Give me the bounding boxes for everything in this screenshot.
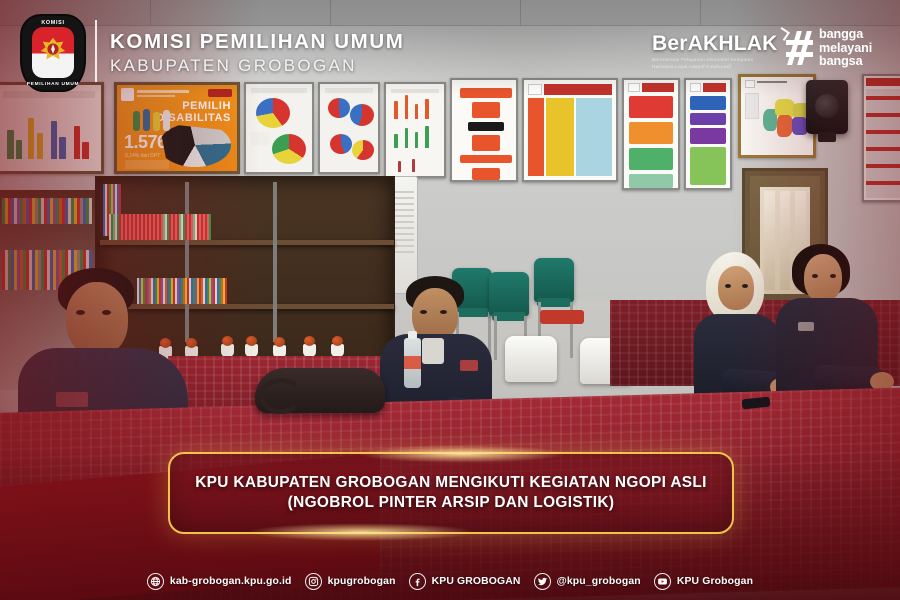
screenshot-root: PEMILIHDISABILITAS 1.576 0,14% dari DPT — [0, 0, 900, 600]
garuda-emblem-icon — [38, 35, 68, 65]
social-item-youtube[interactable]: KPU Grobogan — [654, 573, 753, 590]
social-item-website[interactable]: kab-grobogan.kpu.go.id — [147, 573, 292, 590]
hashtag-icon — [786, 31, 813, 65]
berakhlak-logo: BerAKHLAK Berorientasi Pelayanan Akuntab… — [652, 32, 777, 70]
youtube-icon — [654, 573, 671, 590]
caption-line-2: (NGOBROL PINTER ARSIP DAN LOGISTIK) — [195, 493, 707, 513]
social-label-twitter: @kpu_grobogan — [557, 576, 641, 587]
bangga-line-1: bangga — [819, 28, 872, 42]
social-media-bar: kab-grobogan.kpu.go.id kpugrobogan KPU G… — [0, 573, 900, 590]
backpack — [255, 368, 385, 413]
caption-banner: KPU KABUPATEN GROBOGAN MENGIKUTI KEGIATA… — [168, 452, 734, 534]
instagram-icon — [305, 573, 322, 590]
water-bottle — [404, 338, 421, 388]
social-item-instagram[interactable]: kpugrobogan — [305, 573, 396, 590]
social-label-website: kab-grobogan.kpu.go.id — [170, 576, 292, 587]
social-label-facebook: KPU GROBOGAN — [432, 576, 521, 587]
page-title: KOMISI PEMILIHAN UMUM — [110, 30, 404, 54]
berakhlak-wordmark: BerAKHLAK — [652, 32, 777, 56]
twitter-icon — [534, 573, 551, 590]
banner-glow-bottom — [246, 523, 476, 541]
green-stacking-chair — [534, 258, 574, 302]
bottle-label — [404, 356, 421, 369]
kpu-logo-top-text: KOMISI — [22, 20, 84, 26]
facebook-icon — [409, 573, 426, 590]
globe-icon — [147, 573, 164, 590]
kpu-logo-bottom-text: PEMILIHAN UMUM — [22, 82, 84, 87]
bangga-line-2: melayani — [819, 42, 872, 56]
white-chair — [505, 336, 557, 382]
kpu-logo: KOMISI PEMILIHAN UMUM — [22, 16, 84, 90]
berakhlak-tagline-1: Berorientasi Pelayanan Akuntabel Kompete… — [652, 57, 777, 64]
caption-text: KPU KABUPATEN GROBOGAN MENGIKUTI KEGIATA… — [177, 473, 725, 514]
poster-bar-chart-small — [384, 82, 446, 178]
green-stacking-chair — [489, 272, 529, 316]
social-item-facebook[interactable]: KPU GROBOGAN — [409, 573, 521, 590]
social-label-youtube: KPU Grobogan — [677, 576, 753, 587]
header-divider — [95, 20, 97, 82]
social-label-instagram: kpugrobogan — [328, 576, 396, 587]
banner-glow-top — [357, 445, 567, 463]
caption-line-1: KPU KABUPATEN GROBOGAN MENGIKUTI KEGIATA… — [195, 473, 707, 493]
bangga-line-3: bangsa — [819, 55, 872, 69]
social-item-twitter[interactable]: @kpu_grobogan — [534, 573, 641, 590]
red-cushion — [540, 310, 584, 324]
page-subtitle: KABUPATEN GROBOGAN — [110, 56, 357, 76]
berakhlak-tagline-2: Harmonis Loyal Adaptif Kolaboratif — [652, 64, 777, 71]
bangga-melayani-bangsa-logo: bangga melayani bangsa — [786, 28, 872, 69]
